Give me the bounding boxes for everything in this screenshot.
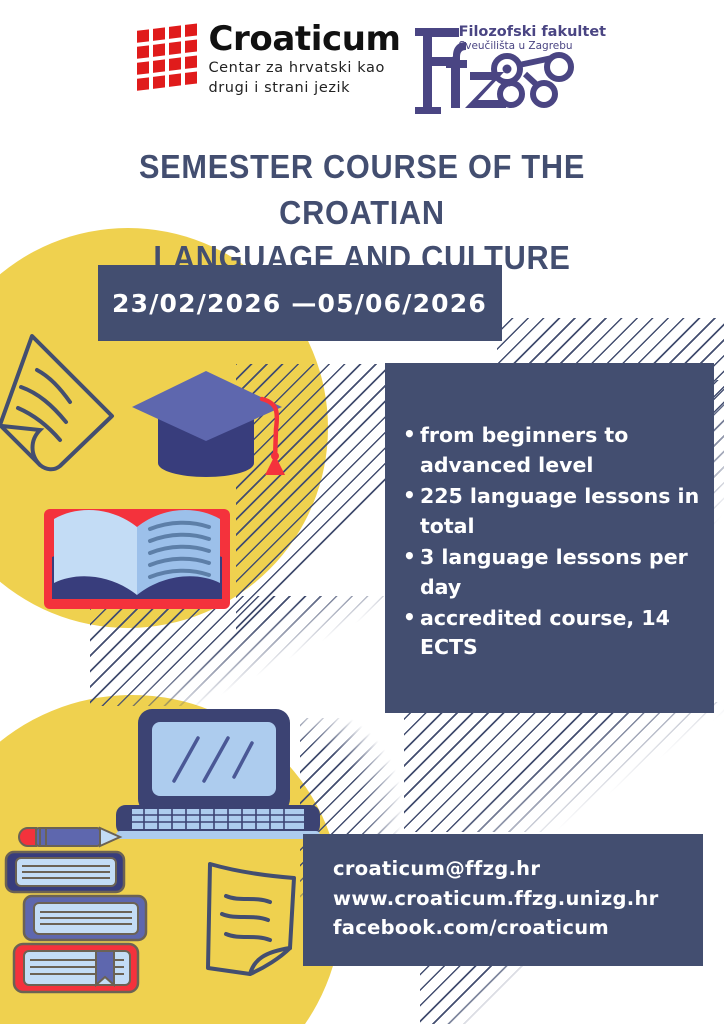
poster-canvas: Croaticum Centar za hrvatski kao drugi i… xyxy=(0,0,724,1024)
features-panel: from beginners to advanced level 225 lan… xyxy=(385,363,714,713)
hatch-pattern-mid-lower xyxy=(404,702,724,832)
croaticum-logo: Croaticum Centar za hrvatski kao drugi i… xyxy=(137,22,400,98)
list-item: accredited course, 14 ECTS xyxy=(403,604,706,664)
croaticum-tagline: Centar za hrvatski kao drugi i strani je… xyxy=(208,59,400,98)
pencil-icon xyxy=(19,828,120,846)
contact-list: croaticum@ffzg.hr www.croaticum.ffzg.uni… xyxy=(303,834,703,943)
hatch-pattern-bottom xyxy=(420,965,540,1024)
poster-header: Croaticum Centar za hrvatski kao drugi i… xyxy=(0,22,724,122)
croaticum-tagline-line2: drugi i strani jezik xyxy=(208,79,400,99)
book-stack-icon xyxy=(0,808,174,1024)
paper-sheet-bottom-icon xyxy=(198,852,310,985)
paper-sheet-icon xyxy=(0,330,124,480)
red-square-grid-icon xyxy=(137,23,199,97)
open-book-icon xyxy=(42,473,232,618)
ffzg-subtitle: Sveučilišta u Zagrebu xyxy=(459,40,573,52)
contact-email[interactable]: croaticum@ffzg.hr xyxy=(333,854,703,884)
croaticum-tagline-line1: Centar za hrvatski kao xyxy=(208,59,400,79)
contact-panel: croaticum@ffzg.hr www.croaticum.ffzg.uni… xyxy=(303,834,703,966)
list-item: 3 language lessons per day xyxy=(403,543,706,603)
list-item: from beginners to advanced level xyxy=(403,421,706,481)
ffzg-logo: Filozofski fakultet Sveučilišta u Zagreb… xyxy=(407,22,587,114)
croaticum-wordmark: Croaticum Centar za hrvatski kao drugi i… xyxy=(208,22,400,98)
contact-website[interactable]: www.croaticum.ffzg.unizg.hr xyxy=(333,884,703,914)
page-title: SEMESTER COURSE OF THE CROATIAN LANGUAGE… xyxy=(53,144,671,281)
contact-facebook[interactable]: facebook.com/croaticum xyxy=(333,913,703,943)
page-title-line2: LANGUAGE AND CULTURE xyxy=(53,235,671,281)
list-item: 225 language lessons in total xyxy=(403,482,706,542)
croaticum-name: Croaticum xyxy=(208,22,400,56)
date-range-text: 23/02/2026 —05/06/2026 xyxy=(98,289,487,318)
page-title-line1: SEMESTER COURSE OF THE CROATIAN xyxy=(53,144,671,235)
features-list: from beginners to advanced level 225 lan… xyxy=(385,363,714,663)
ffzg-title: Filozofski fakultet xyxy=(459,24,607,40)
